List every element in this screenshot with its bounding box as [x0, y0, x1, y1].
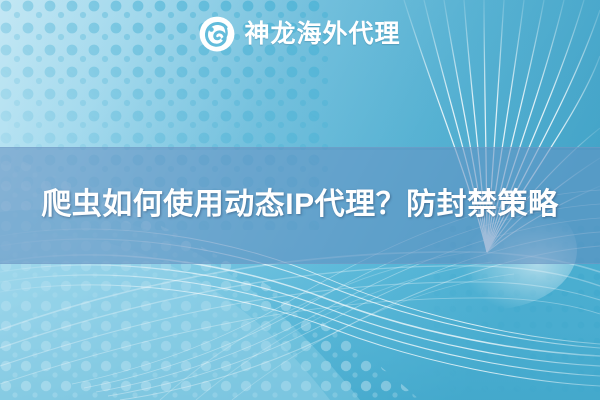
brand-name-label: 神龙海外代理: [244, 22, 400, 47]
brand-logo[interactable]: 神龙海外代理: [0, 10, 600, 58]
page-title-text: 爬虫如何使用动态IP代理？防封禁策略: [41, 185, 558, 225]
page-title: 爬虫如何使用动态IP代理？防封禁策略: [0, 147, 600, 262]
promo-banner: 神龙海外代理 爬虫如何使用动态IP代理？防封禁策略: [0, 0, 600, 400]
swirl-circle-logo-icon: [199, 16, 235, 52]
